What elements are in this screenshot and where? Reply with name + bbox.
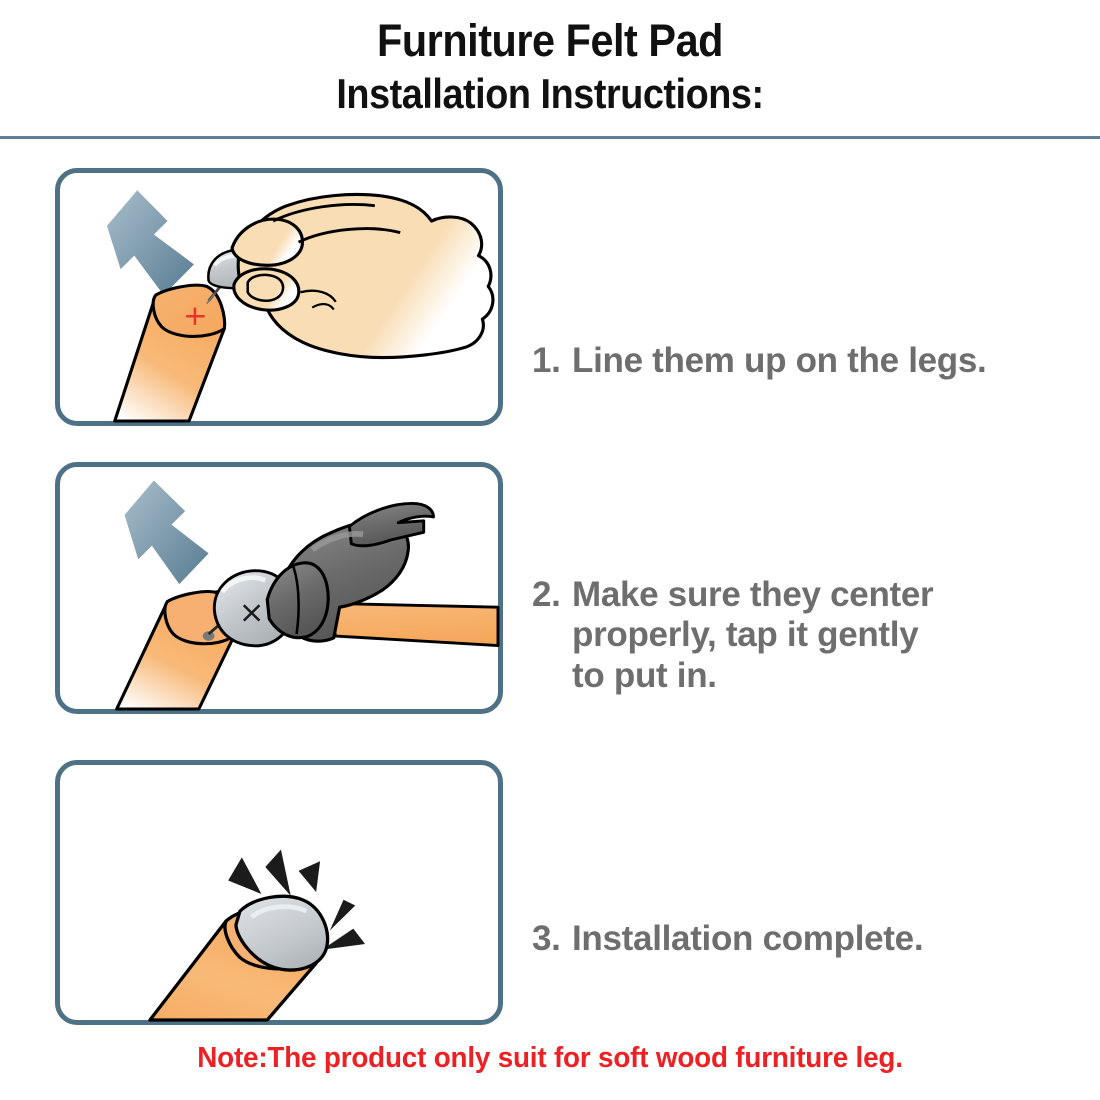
hammer-icon — [267, 503, 498, 645]
step-1-number: 1. — [532, 341, 572, 382]
step-2-number: 2. — [532, 575, 572, 616]
leg-with-felt-pad-installed-illustration — [60, 765, 498, 1020]
step-1-text: 1.Line them up on the legs. — [532, 300, 1092, 381]
instruction-sheet: Furniture Felt Pad Installation Instruct… — [0, 0, 1100, 1100]
step-3-number: 3. — [532, 919, 572, 960]
down-right-arrow-icon — [125, 480, 209, 584]
illustration-panel-step-1 — [55, 168, 503, 426]
down-right-arrow-icon — [107, 190, 194, 295]
step-3-label: Installation complete. — [572, 919, 923, 960]
hammer-tapping-felt-pad-illustration — [60, 467, 498, 709]
page-title-line2: Installation Instructions: — [55, 73, 1045, 115]
step-2-label: Make sure they center properly, tap it g… — [572, 575, 933, 697]
page-title-line1: Furniture Felt Pad — [44, 18, 1056, 63]
furniture-leg-icon — [115, 285, 225, 421]
step-3-text: 3.Installation complete. — [532, 878, 1072, 959]
hand-icon — [232, 194, 493, 357]
header-divider — [0, 136, 1100, 139]
note-text: Note:The product only suit for soft wood… — [22, 1042, 1078, 1075]
hand-placing-felt-pad-on-leg-illustration — [60, 173, 498, 421]
step-2-text: 2.Make sure they center properly, tap it… — [532, 534, 1052, 696]
step-1-label: Line them up on the legs. — [572, 341, 986, 382]
illustration-panel-step-2 — [55, 462, 503, 714]
header: Furniture Felt Pad Installation Instruct… — [0, 0, 1100, 115]
illustration-panel-step-3 — [55, 760, 503, 1025]
